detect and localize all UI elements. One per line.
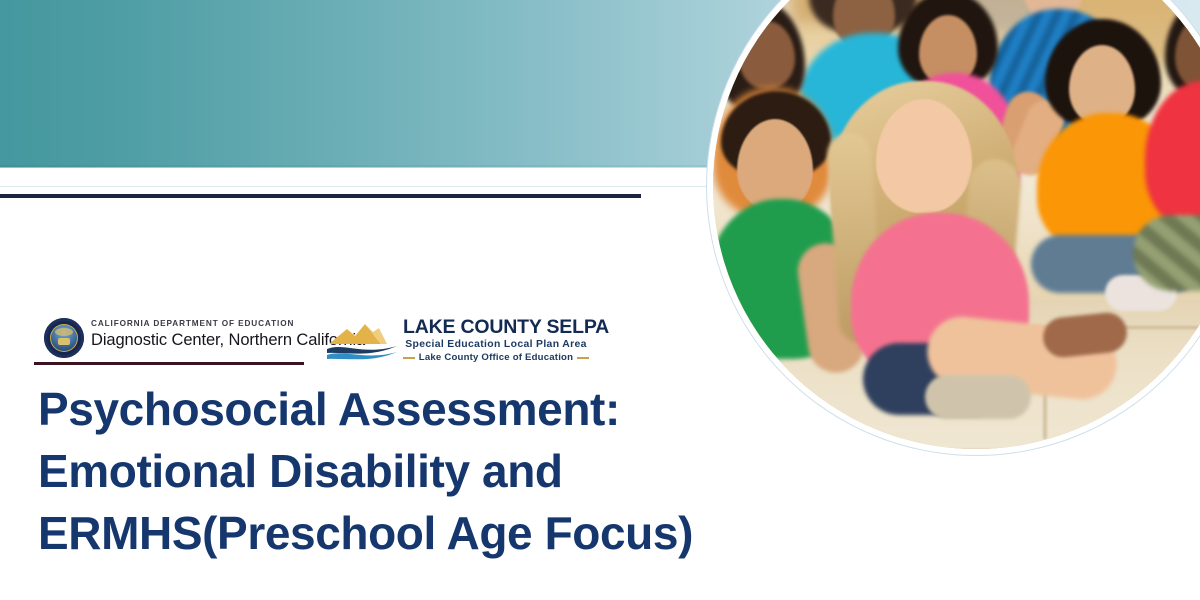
seal-emblem bbox=[58, 338, 70, 345]
dash-left-icon bbox=[403, 357, 415, 359]
selpa-subtitle: Special Education Local Plan Area bbox=[403, 338, 589, 351]
child-leg bbox=[1133, 215, 1200, 291]
selpa-tagline: Lake County Office of Education bbox=[419, 351, 573, 364]
cde-kicker: CALIFORNIA DEPARTMENT OF EDUCATION bbox=[91, 318, 365, 329]
event-banner: CALIFORNIA DEPARTMENT OF EDUCATION Diagn… bbox=[0, 0, 1200, 600]
navy-divider-rule bbox=[0, 194, 641, 198]
title-line-1: Psychosocial Assessment: bbox=[38, 378, 818, 440]
child-shoe bbox=[925, 375, 1031, 419]
dash-right-icon bbox=[577, 357, 589, 359]
selpa-logo: LAKE COUNTY SELPA Special Education Loca… bbox=[325, 316, 590, 368]
title-line-3: ERMHS(Preschool Age Focus) bbox=[38, 502, 818, 564]
title-line-2: Emotional Disability and bbox=[38, 440, 818, 502]
selpa-title: LAKE COUNTY SELPA bbox=[403, 316, 589, 338]
mountain-wave-icon bbox=[325, 322, 401, 364]
child-head bbox=[739, 21, 795, 89]
selpa-tagline-row: Lake County Office of Education bbox=[403, 351, 589, 364]
selpa-logo-text: LAKE COUNTY SELPA Special Education Loca… bbox=[403, 316, 589, 364]
cde-logo: CALIFORNIA DEPARTMENT OF EDUCATION Diagn… bbox=[34, 316, 306, 362]
seal-gold-accent bbox=[55, 328, 73, 336]
seal-inner bbox=[50, 324, 78, 352]
page-title: Psychosocial Assessment: Emotional Disab… bbox=[38, 378, 818, 564]
cde-logo-text: CALIFORNIA DEPARTMENT OF EDUCATION Diagn… bbox=[91, 318, 365, 351]
cde-underline bbox=[34, 362, 304, 365]
cde-center-name: Diagnostic Center, Northern California bbox=[91, 330, 365, 351]
child-head bbox=[737, 119, 813, 211]
california-state-seal-icon bbox=[44, 318, 84, 358]
